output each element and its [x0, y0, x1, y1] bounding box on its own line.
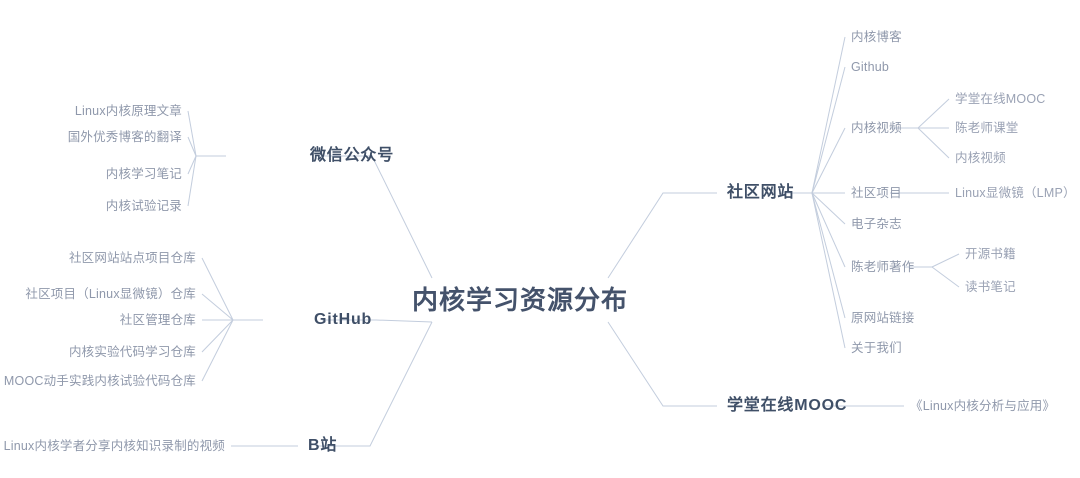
leaf-link-github-0 [202, 258, 233, 320]
leaf-link-wechat-0 [188, 111, 196, 156]
leaf-link-github-4 [202, 320, 233, 381]
leaf-label-community-0[interactable]: 内核博客 [851, 31, 902, 44]
subleaf-link-community-5-1 [932, 267, 959, 287]
leaf-link-community-7 [812, 193, 845, 348]
center-topic[interactable]: 内核学习资源分布 [412, 287, 628, 313]
leaf-link-github-3 [202, 320, 233, 352]
subleaf-link-community-2-2 [918, 128, 949, 158]
trunk-community [608, 193, 717, 278]
leaf-label-community-5[interactable]: 陈老师著作 [851, 261, 915, 274]
leaf-label-github-4[interactable]: MOOC动手实践内核试验代码仓库 [4, 375, 196, 388]
branch-label-community[interactable]: 社区网站 [727, 185, 794, 201]
leaf-label-github-0[interactable]: 社区网站站点项目仓库 [69, 252, 196, 265]
leaf-label-wechat-2[interactable]: 内核学习笔记 [106, 168, 182, 181]
subleaf-label-community-3-0[interactable]: Linux显微镜（LMP） [955, 187, 1076, 200]
trunk-wechat [318, 156, 432, 278]
trunk-bilibili [316, 322, 432, 446]
subleaf-label-community-5-0[interactable]: 开源书籍 [965, 248, 1016, 261]
subleaf-label-community-5-1[interactable]: 读书笔记 [965, 281, 1016, 294]
subleaf-label-community-2-1[interactable]: 陈老师课堂 [955, 122, 1019, 135]
leaf-link-community-5 [812, 193, 845, 267]
leaf-label-community-4[interactable]: 电子杂志 [851, 218, 902, 231]
leaf-link-community-4 [812, 193, 845, 224]
leaf-label-wechat-1[interactable]: 国外优秀博客的翻译 [68, 131, 182, 144]
leaf-label-github-3[interactable]: 内核实验代码学习仓库 [69, 346, 196, 359]
leaf-label-github-2[interactable]: 社区管理仓库 [120, 314, 196, 327]
leaf-label-bilibili-0[interactable]: Linux内核学者分享内核知识录制的视频 [4, 440, 225, 453]
subleaf-link-community-5-0 [932, 254, 959, 267]
leaf-label-wechat-3[interactable]: 内核试验记录 [106, 200, 182, 213]
leaf-label-community-1[interactable]: Github [851, 61, 889, 74]
branch-label-bilibili[interactable]: B站 [308, 438, 337, 454]
leaf-label-community-7[interactable]: 关于我们 [851, 342, 902, 355]
leaf-label-mooc-0[interactable]: 《Linux内核分析与应用》 [910, 400, 1055, 413]
leaf-label-github-1[interactable]: 社区项目（Linux显微镜）仓库 [25, 288, 196, 301]
branch-label-github[interactable]: GitHub [314, 312, 372, 328]
leaf-link-community-2 [812, 128, 845, 193]
leaf-link-community-0 [812, 37, 845, 193]
mindmap-canvas: 内核学习资源分布微信公众号Linux内核原理文章国外优秀博客的翻译内核学习笔记内… [0, 0, 1080, 478]
leaf-link-wechat-2 [188, 156, 196, 174]
subleaf-label-community-2-0[interactable]: 学堂在线MOOC [955, 93, 1046, 106]
subleaf-link-community-2-0 [918, 99, 949, 128]
leaf-link-github-1 [202, 294, 233, 320]
leaf-label-community-3[interactable]: 社区项目 [851, 187, 902, 200]
leaf-label-community-6[interactable]: 原网站链接 [851, 312, 915, 325]
leaf-link-wechat-1 [188, 137, 196, 156]
leaf-label-wechat-0[interactable]: Linux内核原理文章 [75, 105, 182, 118]
trunk-mooc [608, 322, 717, 406]
leaf-label-community-2[interactable]: 内核视频 [851, 122, 902, 135]
branch-label-wechat[interactable]: 微信公众号 [310, 148, 394, 164]
leaf-link-community-1 [812, 67, 845, 193]
subleaf-label-community-2-2[interactable]: 内核视频 [955, 152, 1006, 165]
branch-label-mooc[interactable]: 学堂在线MOOC [727, 398, 847, 414]
leaf-link-wechat-3 [188, 156, 196, 206]
leaf-link-community-6 [812, 193, 845, 318]
